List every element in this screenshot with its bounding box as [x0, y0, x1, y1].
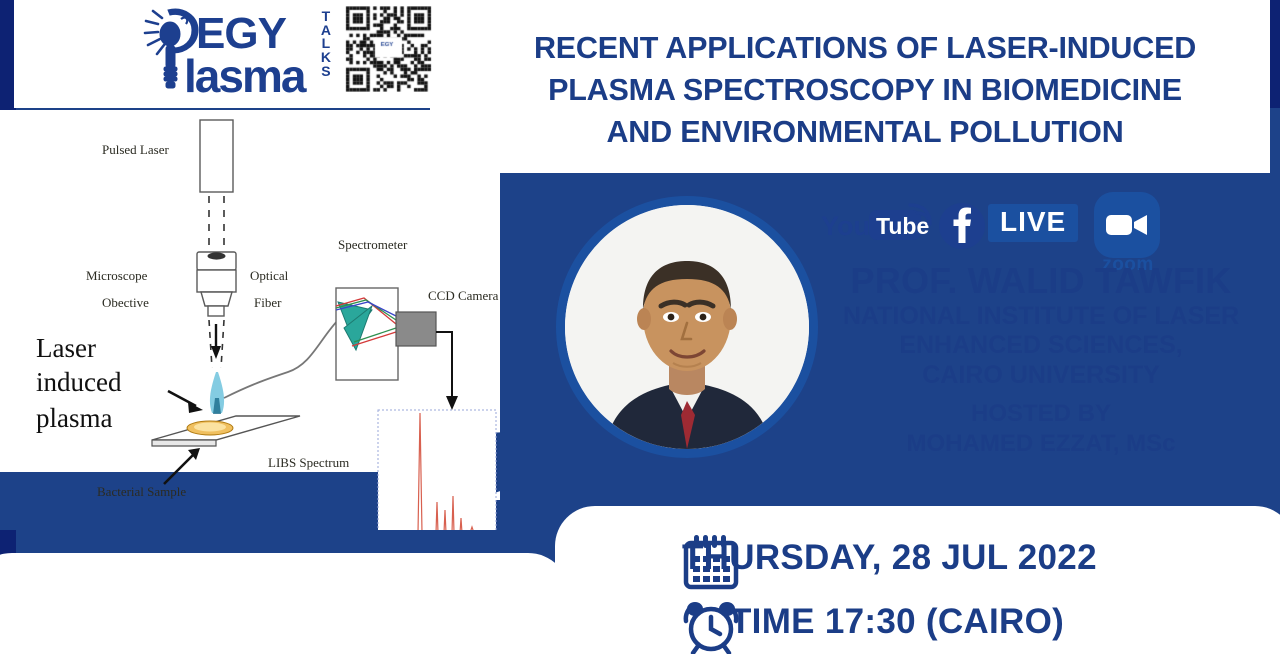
speaker-info: PROF. WALID TAWFIK NATIONAL INSTITUTE OF… — [810, 262, 1272, 458]
bottom-left-panel — [0, 553, 570, 672]
label-ccd-camera: CCD Camera — [428, 288, 498, 304]
logo-tagline: T A L K S — [321, 10, 332, 79]
event-time-row: TIME 17:30 (CAIRO) — [730, 602, 1064, 642]
title-line-1: RECENT APPLICATIONS OF LASER-INDUCED — [534, 27, 1196, 69]
svg-text:Tube: Tube — [876, 213, 929, 239]
label-bacterial-sample: Bacterial Sample — [97, 484, 186, 500]
zoom-icon[interactable]: zoom — [1080, 192, 1176, 268]
speaker-name: PROF. WALID TAWFIK — [810, 262, 1272, 301]
label-plasma-3: plasma — [36, 402, 112, 435]
label-microscope: Microscope — [86, 268, 147, 284]
webinar-poster: EGY lasma T A L K S RECENT APPLICATIONS … — [0, 0, 1280, 672]
speaker-affiliation-line-1: NATIONAL INSTITUTE OF LASER — [810, 303, 1272, 331]
facebook-icon[interactable] — [938, 202, 986, 255]
live-badge: LIVE — [988, 204, 1078, 242]
youtube-icon[interactable]: You Tube — [821, 203, 933, 254]
title-line-3: AND ENVIRONMENTAL POLLUTION — [606, 111, 1123, 153]
spectrometer-box — [336, 288, 458, 410]
speaker-portrait-illustration — [565, 205, 809, 449]
event-date: THURSDAY, 28 JUL 2022 — [682, 538, 1097, 578]
label-fiber: Fiber — [254, 295, 281, 311]
bacterial-sample-slide — [152, 416, 300, 446]
label-spectrometer: Spectrometer — [338, 237, 407, 253]
label-libs-spectrum: LIBS Spectrum — [268, 455, 349, 471]
optical-fiber — [224, 318, 340, 398]
label-plasma-1: Laser — [36, 332, 96, 365]
host-name: MOHAMED EZZAT, MSc — [810, 431, 1272, 458]
ccd-camera-body — [396, 312, 436, 346]
broadcast-platforms: You Tube LIVE — [818, 190, 1178, 270]
event-date-row: THURSDAY, 28 JUL 2022 — [682, 538, 1097, 578]
label-plasma-2: induced — [36, 366, 121, 399]
speaker-photo — [556, 196, 818, 458]
page-title: RECENT APPLICATIONS OF LASER-INDUCED PLA… — [470, 10, 1260, 170]
libs-spectrum-plot — [378, 410, 496, 530]
hosted-by-label: HOSTED BY — [810, 401, 1272, 428]
label-pulsed-laser: Pulsed Laser — [102, 142, 169, 158]
qr-code[interactable] — [340, 6, 452, 92]
label-objective: Obective — [102, 295, 149, 311]
event-time: TIME 17:30 (CAIRO) — [730, 602, 1064, 642]
tagline-letter: S — [321, 65, 331, 79]
libs-setup-diagram — [0, 110, 520, 530]
event-details: THURSDAY, 28 JUL 2022 TIME 17:30 (CAIRO) — [600, 524, 1260, 672]
egy-plasma-logo-mark: EGY lasma — [140, 4, 330, 98]
title-line-2: PLASMA SPECTROSCOPY IN BIOMEDICINE — [548, 69, 1182, 111]
speaker-affiliation-line-2: ENHANCED SCIENCES, — [810, 332, 1272, 360]
svg-text:lasma: lasma — [184, 50, 307, 98]
label-optical: Optical — [250, 268, 288, 284]
zoom-camera-mark — [1094, 192, 1160, 258]
egy-plasma-logo[interactable]: EGY lasma T A L K S — [140, 4, 330, 98]
svg-text:You: You — [821, 211, 870, 241]
speaker-affiliation-line-3: CAIRO UNIVERSITY — [810, 362, 1272, 390]
